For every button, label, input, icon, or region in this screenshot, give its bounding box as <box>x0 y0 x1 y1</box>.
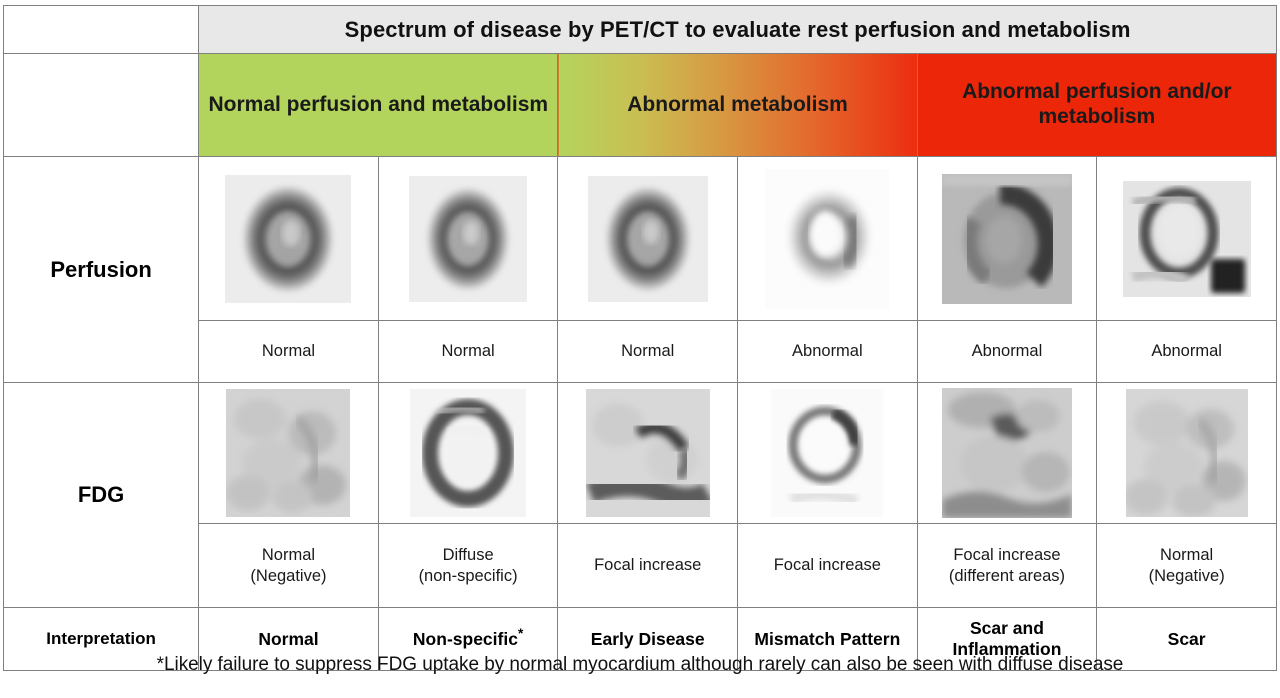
category-abnormal-metabolism: Abnormal metabolism <box>558 54 917 157</box>
row-label-fdg: FDG <box>4 383 199 608</box>
perfusion-scan-6 <box>1097 157 1277 321</box>
fdg-status-1: Normal(Negative) <box>199 524 379 608</box>
category-abnormal-perfusion-and-or-metabolism: Abnormal perfusion and/or metabolism <box>917 54 1276 157</box>
fdg-no-uptake-icon <box>226 389 350 517</box>
fdg-no-uptake-icon <box>1126 389 1248 517</box>
fdg-status-5: Focal increase(different areas) <box>917 524 1097 608</box>
fdg-scan-4 <box>738 383 918 524</box>
perfusion-status-2: Normal <box>378 321 558 383</box>
normal-ring-uniform-icon <box>588 176 708 302</box>
category-normal-perfusion-and-metabolism: Normal perfusion and metabolism <box>199 54 558 157</box>
perfusion-scan-5 <box>917 157 1097 321</box>
category-row: Normal perfusion and metabolism Abnormal… <box>4 54 1277 157</box>
row-label-perfusion: Perfusion <box>4 157 199 383</box>
figure-title: Spectrum of disease by PET/CT to evaluat… <box>199 6 1277 54</box>
corner-cell <box>4 6 199 54</box>
fdg-image-row: FDG <box>4 383 1277 524</box>
normal-ring-uniform-icon <box>409 176 527 302</box>
fdg-diffuse-ring-icon <box>410 389 526 517</box>
fdg-scan-1 <box>199 383 379 524</box>
perfusion-status-1: Normal <box>199 321 379 383</box>
spectrum-table: Spectrum of disease by PET/CT to evaluat… <box>3 5 1277 671</box>
fdg-status-6: Normal(Negative) <box>1097 524 1277 608</box>
fdg-focal-ring-icon <box>771 389 883 517</box>
figure-footnote: *Likely failure to suppress FDG uptake b… <box>0 654 1280 676</box>
fdg-scan-3 <box>558 383 738 524</box>
pet-ct-spectrum-figure: Spectrum of disease by PET/CT to evaluat… <box>0 0 1280 698</box>
perfusion-scan-1 <box>199 157 379 321</box>
title-row: Spectrum of disease by PET/CT to evaluat… <box>4 6 1277 54</box>
abnormal-defect-ring-icon <box>942 174 1072 304</box>
fdg-scan-2 <box>378 383 558 524</box>
fdg-status-3: Focal increase <box>558 524 738 608</box>
perfusion-status-5: Abnormal <box>917 321 1097 383</box>
abnormal-ring-hotspot-icon <box>1123 181 1251 297</box>
perfusion-status-3: Normal <box>558 321 738 383</box>
fdg-focal-apical-icon <box>586 389 710 517</box>
perfusion-status-6: Abnormal <box>1097 321 1277 383</box>
fdg-status-4: Focal increase <box>738 524 918 608</box>
fdg-focal-different-icon <box>942 388 1072 518</box>
perfusion-scan-2 <box>378 157 558 321</box>
fdg-scan-5 <box>917 383 1097 524</box>
fdg-scan-6 <box>1097 383 1277 524</box>
normal-ring-uniform-icon <box>225 175 351 303</box>
perfusion-scan-3 <box>558 157 738 321</box>
footnote-marker: * <box>518 626 523 641</box>
category-row-corner <box>4 54 199 157</box>
fdg-status-2: Diffuse(non-specific) <box>378 524 558 608</box>
perfusion-image-row: Perfusion <box>4 157 1277 321</box>
perfusion-scan-4 <box>738 157 918 321</box>
abnormal-thin-ring-icon <box>765 169 889 309</box>
perfusion-status-4: Abnormal <box>738 321 918 383</box>
